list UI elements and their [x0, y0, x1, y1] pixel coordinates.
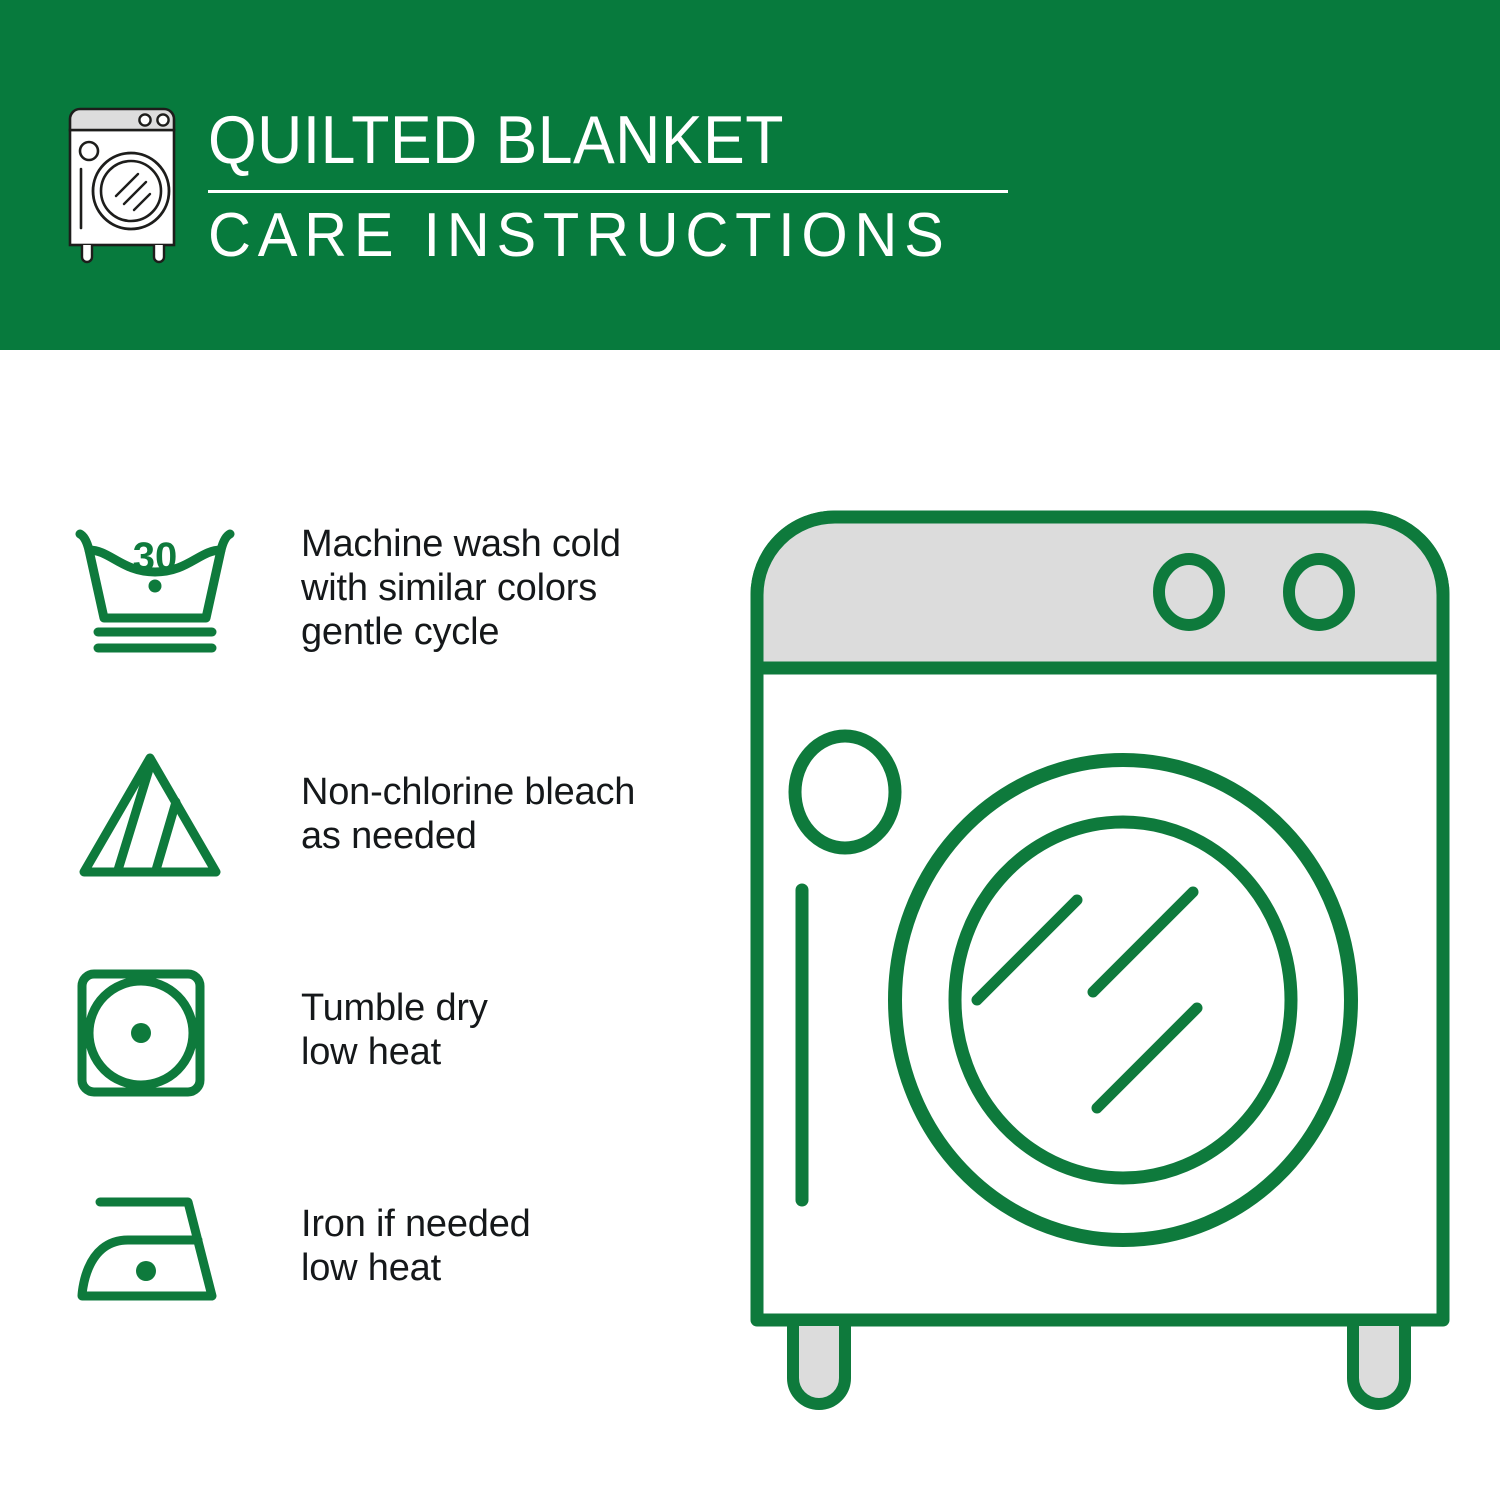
care-text-bleach: Non-chlorine bleach as needed: [245, 722, 710, 858]
care-row-tumble-dry: Tumble dry low heat: [70, 944, 710, 1166]
wash-temperature-label: 30: [133, 535, 178, 579]
care-row-iron: Iron if needed low heat: [70, 1166, 710, 1388]
page-subtitle: CARE INSTRUCTIONS: [208, 203, 976, 269]
leg-left: [793, 1320, 845, 1404]
control-knob-left: [1159, 559, 1219, 625]
care-line: Machine wash cold: [301, 522, 710, 566]
care-row-wash: 30 Machine wash cold with similar colors…: [70, 500, 710, 722]
care-row-bleach: Non-chlorine bleach as needed: [70, 722, 710, 944]
header-banner: QUILTED BLANKET CARE INSTRUCTIONS: [0, 0, 1500, 350]
care-text-wash: Machine wash cold with similar colors ge…: [245, 500, 710, 654]
tumble-dry-low-heat-icon: [70, 944, 245, 1104]
care-line: gentle cycle: [301, 610, 710, 654]
wash-tub-30-gentle-icon: 30: [70, 500, 245, 658]
care-instruction-list: 30 Machine wash cold with similar colors…: [70, 500, 710, 1388]
leg-right: [1353, 1320, 1405, 1404]
page-title: QUILTED BLANKET: [208, 104, 944, 176]
care-line: as needed: [301, 814, 710, 858]
title-block: QUILTED BLANKET CARE INSTRUCTIONS: [208, 100, 1008, 269]
care-line: Tumble dry: [301, 986, 710, 1030]
care-text-iron: Iron if needed low heat: [245, 1166, 710, 1290]
care-line: with similar colors: [301, 566, 710, 610]
door-inner-ring: [955, 822, 1291, 1178]
care-line: Iron if needed: [301, 1202, 710, 1246]
non-chlorine-bleach-triangle-icon: [70, 722, 245, 884]
care-line: Non-chlorine bleach: [301, 770, 710, 814]
care-line: low heat: [301, 1246, 710, 1290]
control-knob-right: [1289, 559, 1349, 625]
care-line: low heat: [301, 1030, 710, 1074]
iron-low-heat-icon: [70, 1166, 245, 1318]
header-content: QUILTED BLANKET CARE INSTRUCTIONS: [62, 100, 1008, 269]
detergent-indicator: [795, 736, 895, 848]
front-load-washing-machine-illustration: [745, 500, 1455, 1430]
care-text-tumble-dry: Tumble dry low heat: [245, 944, 710, 1074]
title-divider: [208, 190, 1008, 193]
washing-machine-logo-icon: [62, 100, 190, 265]
